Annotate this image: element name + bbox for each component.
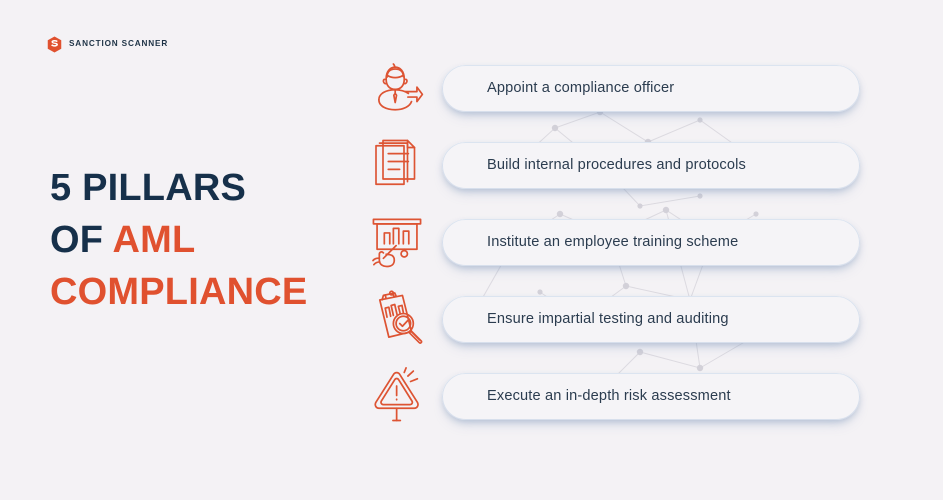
pillar-pill[interactable]: Institute an employee training scheme	[442, 219, 860, 266]
list-item[interactable]: Ensure impartial testing and auditing	[366, 288, 860, 350]
pillar-label: Execute an in-depth risk assessment	[442, 389, 749, 404]
list-item[interactable]: Appoint a compliance officer	[366, 57, 860, 119]
compliance-officer-icon	[366, 57, 428, 119]
clipboard-magnifier-check-icon	[366, 288, 428, 350]
pillar-label: Ensure impartial testing and auditing	[442, 312, 747, 327]
warning-triangle-sign-icon	[366, 365, 428, 427]
presentation-board-hand-icon	[366, 211, 428, 273]
pillar-pill[interactable]: Appoint a compliance officer	[442, 65, 860, 112]
pillar-pill[interactable]: Build internal procedures and protocols	[442, 142, 860, 189]
infographic-canvas: SANCTION SCANNER 5 PILLARS OF AML COMPLI…	[0, 0, 943, 500]
pillar-pill[interactable]: Execute an in-depth risk assessment	[442, 373, 860, 420]
list-item[interactable]: Execute an in-depth risk assessment	[366, 365, 860, 427]
pillar-label: Appoint a compliance officer	[442, 81, 692, 96]
list-item[interactable]: Institute an employee training scheme	[366, 211, 860, 273]
list-item[interactable]: Build internal procedures and protocols	[366, 134, 860, 196]
pillar-pill[interactable]: Ensure impartial testing and auditing	[442, 296, 860, 343]
documents-stack-icon	[366, 134, 428, 196]
pillar-label: Build internal procedures and protocols	[442, 158, 764, 173]
pillar-label: Institute an employee training scheme	[442, 235, 756, 250]
pillars-list: Appoint a compliance officer Build inter…	[0, 0, 943, 500]
